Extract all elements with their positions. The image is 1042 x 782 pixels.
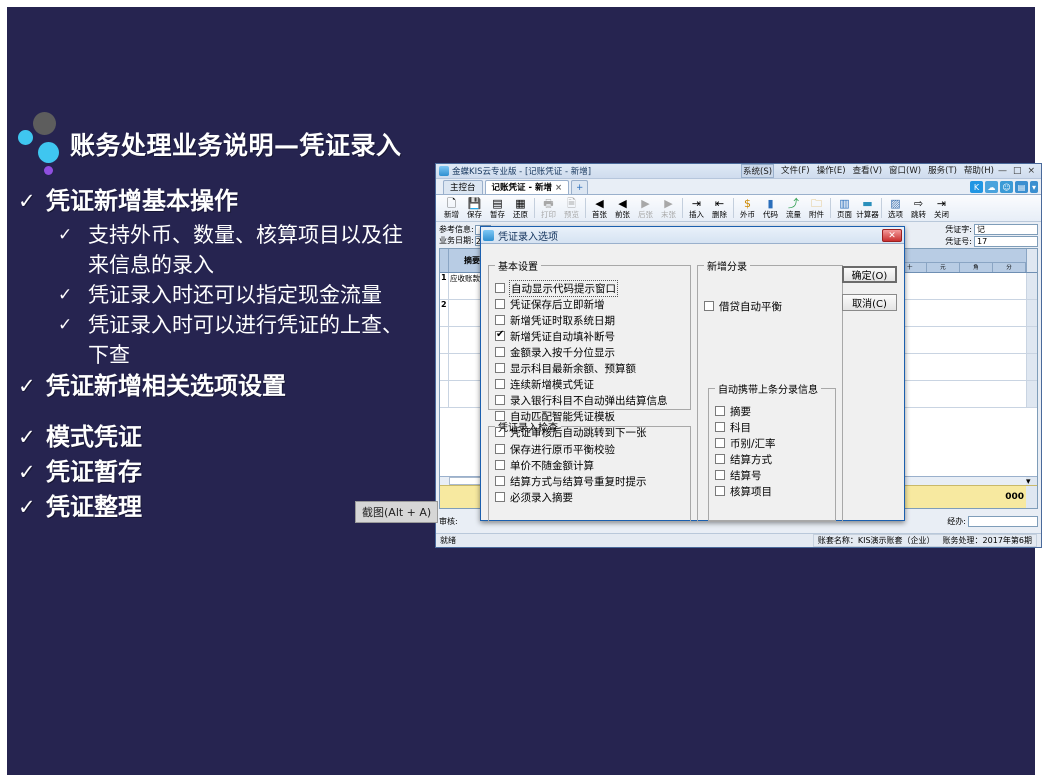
- menu-item-file[interactable]: 文件(F): [781, 164, 810, 178]
- group-carry-previous-entry: 自动携带上条分录信息 摘要 科目 币别/汇率 结算方式 结算号 核算项目: [708, 381, 836, 521]
- toolbar-label: 还原: [513, 210, 528, 219]
- checkbox-row-price-not-auto-calc[interactable]: 单价不随金额计算: [495, 457, 684, 473]
- check-mark-icon: ✓: [18, 370, 46, 403]
- status-period: 账务处理：2017年第6期: [943, 535, 1032, 546]
- status-right-group: 账套名称：KIS演示账套（企业） 账务处理：2017年第6期: [813, 534, 1037, 547]
- toolbar-label: 暂存: [490, 210, 505, 219]
- goto-icon: ⇨: [914, 198, 923, 210]
- checkbox-label: 金额录入按千分位显示: [510, 345, 615, 360]
- voucher-number-input[interactable]: 17: [974, 236, 1038, 247]
- print-icon: 🖶: [543, 198, 553, 210]
- checkbox-label: 连续新增模式凭证: [510, 377, 594, 392]
- bullet-text: 凭证新增相关选项设置: [46, 370, 286, 403]
- bullet-text: 凭证新增基本操作: [46, 185, 238, 218]
- toolbar-label: 附件: [809, 210, 824, 219]
- decor-dot-gray-icon: [33, 112, 56, 135]
- checkbox-label: 科目: [730, 420, 751, 435]
- menu-item-help[interactable]: 帮助(H): [964, 164, 994, 178]
- ok-button[interactable]: 确定(O): [842, 266, 897, 283]
- grid-scrollbar-up[interactable]: [1026, 273, 1037, 299]
- group-legend: 凭证录入检查: [495, 419, 561, 434]
- checkbox-label: 新增凭证时取系统日期: [510, 313, 615, 328]
- checkbox-row-bank-no-popup[interactable]: 录入银行科目不自动弹出结算信息: [495, 392, 684, 408]
- kingdee-icon[interactable]: K: [970, 181, 983, 193]
- bullet-item-4: ✓ 凭证录入时可以进行凭证的上查、下查: [58, 310, 438, 370]
- bullet-text: 支持外币、数量、核算项目以及往来信息的录入: [88, 220, 408, 280]
- checkbox-row-show-latest-balance[interactable]: 显示科目最新余额、预算额: [495, 360, 684, 376]
- toolbar-button-close[interactable]: ⇥关闭: [930, 198, 953, 219]
- checkbox-label: 必须录入摘要: [510, 490, 573, 505]
- voucher-word-input[interactable]: 记: [974, 224, 1038, 235]
- checkbox-icon[interactable]: [495, 283, 505, 293]
- check-mark-icon: ✓: [58, 280, 88, 310]
- window-controls: — □ ×: [998, 166, 1038, 176]
- group-legend: 自动携带上条分录信息: [715, 381, 821, 396]
- checkbox-row-carry-currency-rate[interactable]: 币别/汇率: [715, 435, 829, 451]
- tab-close-icon[interactable]: ×: [555, 183, 562, 193]
- grid-scrollbar-track[interactable]: [1026, 300, 1037, 326]
- toolbar-label: 末张: [661, 210, 676, 219]
- tab-console[interactable]: 主控台: [443, 180, 483, 194]
- code-icon: ▮: [767, 198, 773, 210]
- toolbar-button-code[interactable]: ▮代码: [759, 198, 782, 219]
- checkbox-label: 摘要: [730, 404, 751, 419]
- checkbox-icon[interactable]: [495, 444, 505, 454]
- minimize-icon[interactable]: —: [998, 166, 1007, 176]
- group-legend: 基本设置: [495, 258, 541, 273]
- toolbar-button-preview[interactable]: 🗎预览: [560, 198, 583, 219]
- menu-item-operation[interactable]: 操作(E): [817, 164, 846, 178]
- checkbox-icon[interactable]: [704, 301, 714, 311]
- bullet-item-1: ✓ 凭证新增基本操作: [18, 185, 438, 218]
- toolbar-separator: [682, 198, 683, 218]
- dialog-body: 基本设置 自动显示代码提示窗口 凭证保存后立即新增 新增凭证时取系统日期 新增凭…: [481, 244, 904, 520]
- toolbar-label: 打印: [541, 210, 556, 219]
- row-number: 2: [440, 300, 449, 326]
- bullet-item-2: ✓ 支持外币、数量、核算项目以及往来信息的录入: [58, 220, 438, 280]
- delete-row-icon: ⇤: [715, 198, 724, 210]
- toolbar-label: 预览: [564, 210, 579, 219]
- checkbox-row-continuous-template[interactable]: 连续新增模式凭证: [495, 376, 684, 392]
- toolbar-separator: [585, 198, 586, 218]
- check-mark-icon: ✓: [18, 421, 46, 454]
- toolbar-label: 跳转: [911, 210, 926, 219]
- bullet-text: 模式凭证: [46, 421, 142, 454]
- checkbox-label: 凭证保存后立即新增: [510, 297, 605, 312]
- close-icon[interactable]: ✕: [882, 229, 902, 242]
- checkbox-row-original-currency-balance[interactable]: 保存进行原币平衡校验: [495, 441, 684, 457]
- bullet-item-5: ✓ 凭证新增相关选项设置: [18, 370, 438, 403]
- restore-icon: ▦: [515, 198, 525, 210]
- dialog-titlebar: 凭证录入选项 ✕: [481, 227, 904, 244]
- calculator-icon: ▬: [862, 198, 872, 210]
- checkbox-row-auto-code-hint[interactable]: 自动显示代码提示窗口: [495, 280, 684, 296]
- status-book-name: 账套名称：KIS演示账套（企业）: [818, 535, 935, 546]
- tab-bar: 主控台 记账凭证 - 新增× + K ☁ ☺ ▤ ▾: [436, 179, 1041, 195]
- checkbox-icon[interactable]: [495, 476, 505, 486]
- checkbox-row-system-date[interactable]: 新增凭证时取系统日期: [495, 312, 684, 328]
- checkbox-row-summary-required[interactable]: 必须录入摘要: [495, 489, 684, 505]
- checkbox-label: 结算方式: [730, 452, 772, 467]
- cash-flow-icon: ⤴: [788, 198, 799, 210]
- cloud-icon[interactable]: ☁: [985, 181, 998, 193]
- toolbar-separator: [534, 198, 535, 218]
- toolbar-button-goto[interactable]: ⇨跳转: [907, 198, 930, 219]
- new-document-icon: 🗋: [447, 198, 456, 210]
- menu-item-window[interactable]: 窗口(W): [889, 164, 921, 178]
- checkbox-row-new-after-save[interactable]: 凭证保存后立即新增: [495, 296, 684, 312]
- toolbar-button-last[interactable]: ▶末张: [657, 198, 680, 219]
- toolbar-button-next[interactable]: ▶后张: [634, 198, 657, 219]
- check-mark-icon: ✓: [18, 491, 46, 524]
- bullet-item-7: ✓ 凭证暂存: [18, 456, 438, 489]
- tab-label: +: [576, 183, 583, 193]
- toolbar-label: 代码: [763, 210, 778, 219]
- group-basic-settings: 基本设置 自动显示代码提示窗口 凭证保存后立即新增 新增凭证时取系统日期 新增凭…: [488, 258, 691, 410]
- slide-bullet-list: ✓ 凭证新增基本操作 ✓ 支持外币、数量、核算项目以及往来信息的录入 ✓ 凭证录…: [18, 185, 438, 526]
- grid-scrollbar-track[interactable]: [1026, 381, 1037, 407]
- checkbox-icon[interactable]: [715, 422, 725, 432]
- checkbox-icon[interactable]: [495, 315, 505, 325]
- screenshot-tooltip: 截图(Alt + A): [355, 501, 438, 523]
- field-label: 业务日期:: [439, 235, 474, 246]
- field-label: 凭证字:: [940, 224, 974, 235]
- group-entry-check: 凭证录入检查 保存进行原币平衡校验 单价不随金额计算 结算方式与结算号重复时提示…: [488, 419, 691, 522]
- check-mark-icon: ✓: [58, 310, 88, 340]
- dialog-app-icon: [483, 230, 494, 241]
- decor-dot-cyan-small-icon: [18, 130, 33, 145]
- attachment-icon: 🗀: [811, 198, 822, 210]
- toolbar-button-save[interactable]: 💾保存: [463, 198, 486, 219]
- checkbox-icon[interactable]: [495, 379, 505, 389]
- toolbar-button-currency[interactable]: $外币: [736, 198, 759, 219]
- bullet-text: 凭证录入时还可以指定现金流量: [88, 280, 382, 310]
- toolbar-button-options[interactable]: ▨选项: [884, 198, 907, 219]
- grid-scrollbar-track[interactable]: [1026, 354, 1037, 380]
- toolbar-button-tempsave[interactable]: ▤暂存: [486, 198, 509, 219]
- toolbar-label: 流量: [786, 210, 801, 219]
- toolbar-label: 计算器: [856, 210, 879, 219]
- checkbox-icon[interactable]: [495, 395, 505, 405]
- bullet-text: 凭证整理: [46, 491, 142, 524]
- checkbox-label: 保存进行原币平衡校验: [510, 442, 615, 457]
- window-titlebar: 金蝶KIS云专业版 - [记账凭证 - 新增] 系统(S) 文件(F) 操作(E…: [436, 164, 1041, 179]
- insert-row-icon: ⇥: [692, 198, 701, 210]
- check-mark-icon: ✓: [58, 220, 88, 250]
- next-record-icon: ▶: [641, 198, 649, 210]
- preview-icon: 🗎: [567, 198, 576, 210]
- tab-voucher-new[interactable]: 记账凭证 - 新增×: [485, 180, 570, 194]
- checkbox-icon[interactable]: [715, 470, 725, 480]
- checkbox-icon[interactable]: [495, 492, 505, 502]
- message-icon[interactable]: ▤: [1015, 181, 1028, 193]
- checkbox-row-carry-settlement-number[interactable]: 结算号: [715, 467, 829, 483]
- cancel-button[interactable]: 取消(C): [842, 294, 897, 311]
- checkbox-label: 结算方式与结算号重复时提示: [510, 474, 647, 489]
- chevron-down-icon[interactable]: ▾: [1030, 181, 1038, 193]
- toolbar-button-delete[interactable]: ⇤删除: [708, 198, 731, 219]
- checkbox-icon[interactable]: [495, 331, 505, 341]
- maximize-icon[interactable]: □: [1013, 166, 1022, 176]
- menu-bar: 系统(S) 文件(F) 操作(E) 查看(V) 窗口(W) 服务(T) 帮助(H…: [741, 164, 998, 178]
- checkbox-icon[interactable]: [495, 299, 505, 309]
- dialog-title: 凭证录入选项: [498, 228, 558, 243]
- checkbox-label: 币别/汇率: [730, 436, 776, 451]
- menu-item-service[interactable]: 服务(T): [928, 164, 957, 178]
- checkbox-icon[interactable]: [715, 438, 725, 448]
- checkbox-label: 新增凭证自动填补断号: [510, 329, 615, 344]
- checkbox-label: 核算项目: [730, 484, 772, 499]
- field-label: 凭证号:: [940, 236, 974, 247]
- close-icon[interactable]: ×: [1027, 166, 1035, 176]
- toolbar-label: 页面: [837, 210, 852, 219]
- check-mark-icon: ✓: [18, 185, 46, 218]
- toolbar-button-page[interactable]: ▥页面: [833, 198, 856, 219]
- toolbar-button-first[interactable]: ◀首张: [588, 198, 611, 219]
- checkbox-row-carry-accounting-item[interactable]: 核算项目: [715, 483, 829, 499]
- toolbar-button-prev[interactable]: ◀前张: [611, 198, 634, 219]
- grid-scrollbar-track[interactable]: [1026, 327, 1037, 353]
- toolbar-button-new[interactable]: 🗋新增: [440, 198, 463, 219]
- checkbox-icon[interactable]: [495, 460, 505, 470]
- grid-scrollbar-down[interactable]: ▾: [1026, 477, 1037, 485]
- checkbox-row-thousand-separator[interactable]: 金额录入按千分位显示: [495, 344, 684, 360]
- checkbox-row-autofill-gap-number[interactable]: 新增凭证自动填补断号: [495, 328, 684, 344]
- row-number: [440, 354, 449, 380]
- bullet-text: 凭证暂存: [46, 456, 142, 489]
- decor-dot-cyan-large-icon: [38, 142, 59, 163]
- checkbox-label: 显示科目最新余额、预算额: [510, 361, 636, 376]
- options-icon: ▨: [890, 198, 900, 210]
- toolbar-button-attachment[interactable]: 🗀附件: [805, 198, 828, 219]
- toolbar-button-calculator[interactable]: ▬计算器: [856, 198, 879, 219]
- checkbox-icon[interactable]: [715, 486, 725, 496]
- toolbar-label: 新增: [444, 210, 459, 219]
- menu-item-view[interactable]: 查看(V): [853, 164, 882, 178]
- toolbar-separator: [881, 198, 882, 218]
- row-number: [440, 327, 449, 353]
- tab-label: 记账凭证 - 新增: [492, 183, 552, 193]
- checkbox-label: 结算号: [730, 468, 762, 483]
- handler-input[interactable]: [968, 516, 1038, 527]
- voucher-entry-options-dialog: 凭证录入选项 ✕ 基本设置 自动显示代码提示窗口 凭证保存后立即新增 新增凭证时…: [480, 226, 905, 521]
- bullet-text: 凭证录入时可以进行凭证的上查、下查: [88, 310, 408, 370]
- checkbox-icon[interactable]: [495, 363, 505, 373]
- checkbox-row-auto-balance[interactable]: 借贷自动平衡: [704, 298, 836, 314]
- toolbar-label: 删除: [712, 210, 727, 219]
- first-record-icon: ◀: [595, 198, 603, 210]
- field-label: 参考信息:: [439, 224, 474, 235]
- decor-dot-purple-icon: [44, 166, 53, 175]
- window-title: 金蝶KIS云专业版 - [记账凭证 - 新增]: [452, 165, 591, 177]
- checkbox-icon[interactable]: [495, 347, 505, 357]
- page-setup-icon: ▥: [839, 198, 849, 210]
- group-new-entry: 新增分录 借贷自动平衡 自动携带上条分录信息 摘要 科目 币别/汇率 结算方式 …: [697, 258, 843, 522]
- row-number: 1: [440, 273, 449, 299]
- handler-label: 经办:: [947, 516, 966, 527]
- slide-title: 账务处理业务说明—凭证录入: [70, 126, 402, 162]
- checkbox-row-duplicate-settlement-warning[interactable]: 结算方式与结算号重复时提示: [495, 473, 684, 489]
- check-mark-icon: ✓: [18, 456, 46, 489]
- row-number: [440, 381, 449, 407]
- toolbar-label: 前张: [615, 210, 630, 219]
- toolbar-button-print[interactable]: 🖶打印: [537, 198, 560, 219]
- toolbar-separator: [830, 198, 831, 218]
- temp-save-icon: ▤: [492, 198, 502, 210]
- status-bar: 就绪 账套名称：KIS演示账套（企业） 账务处理：2017年第6期: [436, 533, 1041, 547]
- toolbar-label: 关闭: [934, 210, 949, 219]
- checkbox-row-carry-summary[interactable]: 摘要: [715, 403, 829, 419]
- tab-add-button[interactable]: +: [571, 180, 588, 194]
- checkbox-label: 自动显示代码提示窗口: [510, 281, 617, 296]
- close-window-icon: ⇥: [937, 198, 946, 210]
- checkbox-label: 录入银行科目不自动弹出结算信息: [510, 393, 668, 408]
- save-icon: 💾: [468, 198, 482, 210]
- checkbox-row-carry-account[interactable]: 科目: [715, 419, 829, 435]
- foreign-currency-icon: $: [744, 198, 751, 210]
- bullet-spacer: [18, 405, 438, 421]
- group-legend: 新增分录: [704, 258, 750, 273]
- toolbar-label: 选项: [888, 210, 903, 219]
- toolbar-button-insert[interactable]: ⇥插入: [685, 198, 708, 219]
- toolbar-label: 外币: [740, 210, 755, 219]
- smiley-icon[interactable]: ☺: [1000, 181, 1013, 193]
- last-record-icon: ▶: [664, 198, 672, 210]
- bullet-item-3: ✓ 凭证录入时还可以指定现金流量: [58, 280, 438, 310]
- checkbox-label: 单价不随金额计算: [510, 458, 594, 473]
- toolbar-label: 首张: [592, 210, 607, 219]
- toolbar-button-restore[interactable]: ▦还原: [509, 198, 532, 219]
- toolbar-separator: [733, 198, 734, 218]
- toolbar-label: 保存: [467, 210, 482, 219]
- app-logo-icon: [439, 166, 449, 176]
- checkbox-icon[interactable]: [715, 454, 725, 464]
- prev-record-icon: ◀: [618, 198, 626, 210]
- toolbar-button-cashflow[interactable]: ⤴流量: [782, 198, 805, 219]
- checkbox-label: 借贷自动平衡: [719, 299, 782, 314]
- checkbox-icon[interactable]: [715, 406, 725, 416]
- toolbar-label: 后张: [638, 210, 653, 219]
- main-toolbar: 🗋新增 💾保存 ▤暂存 ▦还原 🖶打印 🗎预览 ◀首张 ◀前张 ▶后张 ▶末张 …: [436, 195, 1041, 222]
- field-voucher-number[interactable]: 凭证号: 17: [940, 236, 1038, 247]
- tab-label: 主控台: [450, 183, 476, 193]
- system-tray-icons: K ☁ ☺ ▤ ▾: [970, 181, 1038, 193]
- toolbar-label: 插入: [689, 210, 704, 219]
- auditor-label: 审核:: [439, 516, 458, 527]
- field-voucher-word[interactable]: 凭证字: 记: [940, 224, 1038, 235]
- bullet-item-6: ✓ 模式凭证: [18, 421, 438, 454]
- status-ready: 就绪: [440, 535, 456, 546]
- menu-item-system[interactable]: 系统(S): [741, 164, 774, 178]
- checkbox-row-carry-settlement-method[interactable]: 结算方式: [715, 451, 829, 467]
